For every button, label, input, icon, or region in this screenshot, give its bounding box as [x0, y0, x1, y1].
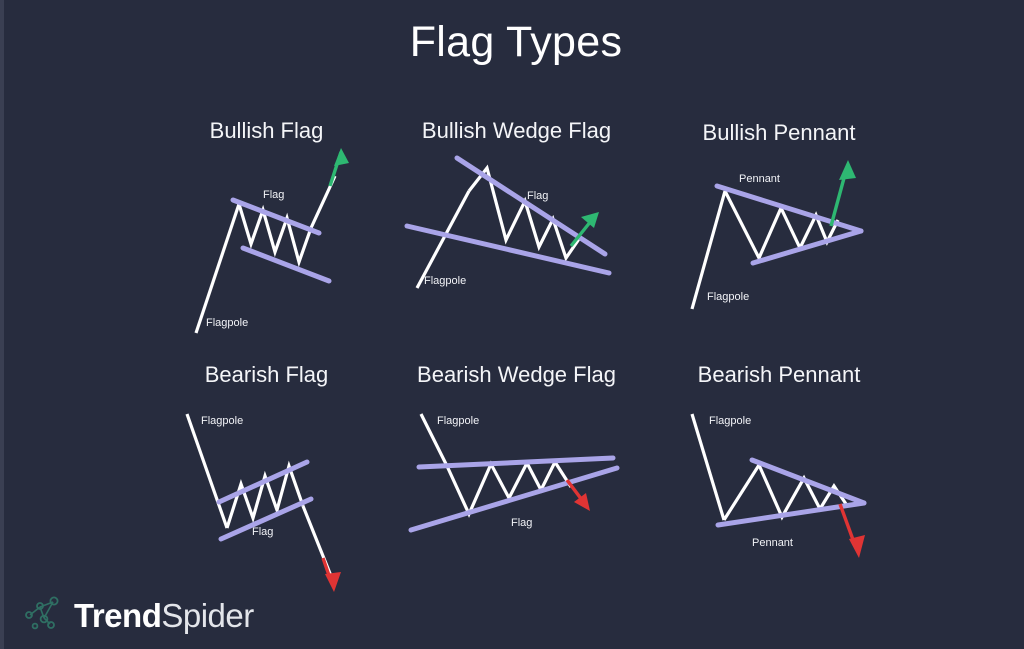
flagpole-line [692, 414, 724, 520]
label-flag: Flag [252, 526, 273, 538]
panel-bearish-flag: Bearish Flag Flagpole Flag [159, 362, 374, 597]
infographic-root: Flag Types Bullish Flag Flag Flagpole Bu… [0, 0, 1024, 649]
flagpole-line [196, 204, 239, 333]
upper-trendline [752, 460, 864, 503]
label-pennant: Pennant [739, 173, 780, 185]
panel-bearish-pennant: Bearish Pennant Flagpole Pennant [664, 362, 894, 562]
label-pennant: Pennant [752, 537, 793, 549]
label-flagpole: Flagpole [437, 415, 479, 427]
page-title: Flag Types [4, 18, 1024, 67]
consolidation-zigzag [725, 191, 838, 258]
upper-trendline [419, 458, 613, 467]
panel-bullish-pennant: Bullish Pennant Pennant Flagpole [669, 120, 889, 320]
label-flag: Flag [263, 189, 284, 201]
label-flagpole: Flagpole [206, 317, 248, 329]
logo-text-light: Spider [161, 597, 253, 634]
panel-bullish-wedge-flag: Bullish Wedge Flag Flag Flagpole [399, 118, 634, 303]
logo-wordmark: TrendSpider [74, 599, 254, 632]
network-nodes-icon [20, 593, 66, 637]
bearish-breakdown-arrow [567, 480, 590, 511]
panel-bullish-flag: Bullish Flag Flag Flagpole [159, 118, 374, 343]
bullish-breakout-arrow [330, 148, 349, 186]
bullish-breakout-arrow [831, 160, 856, 226]
logo-text-bold: Trend [74, 597, 161, 634]
upper-trendline [457, 158, 605, 254]
label-flagpole: Flagpole [709, 415, 751, 427]
bearish-breakdown-arrow [840, 504, 865, 558]
bearish-breakdown-arrow [323, 558, 341, 592]
label-flag: Flag [527, 190, 548, 202]
flagpole-line [187, 414, 227, 528]
panel-bearish-wedge-flag: Bearish Wedge Flag Flagpole Flag [399, 362, 634, 552]
label-flagpole: Flagpole [424, 275, 466, 287]
label-flag: Flag [511, 517, 532, 529]
brand-logo[interactable]: TrendSpider [20, 593, 254, 637]
label-flagpole: Flagpole [707, 291, 749, 303]
label-flagpole: Flagpole [201, 415, 243, 427]
consolidation-zigzag [239, 204, 311, 262]
lower-trendline [243, 248, 329, 281]
